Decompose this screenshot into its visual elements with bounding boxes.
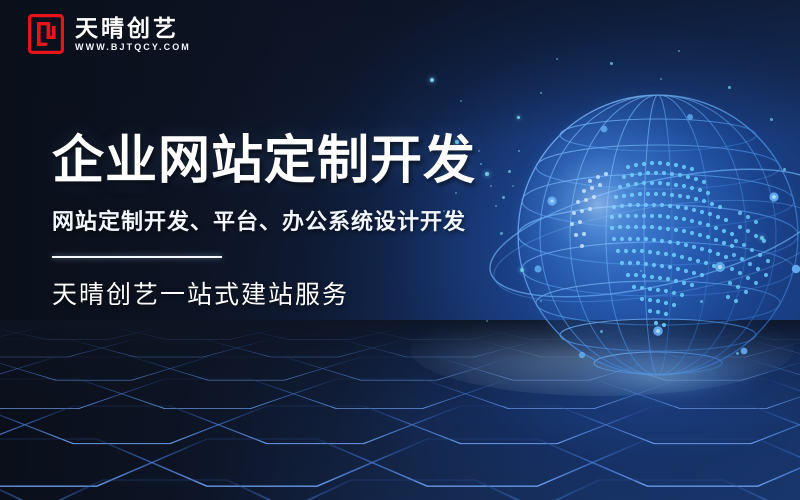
tianqing-square-logo-icon: [28, 14, 64, 54]
divider: [52, 256, 222, 258]
subtitle: 网站定制开发、平台、办公系统设计开发: [52, 208, 572, 237]
tagline: 天晴创艺一站式建站服务: [52, 279, 572, 312]
copy-block: 企业网站定制开发 网站定制开发、平台、办公系统设计开发 天晴创艺一站式建站服务: [52, 132, 572, 311]
banner-stage: 天晴创艺 WWW.BJTQCY.COM 企业网站定制开发 网站定制开发、平台、办…: [0, 0, 800, 500]
page-title: 企业网站定制开发: [52, 132, 572, 190]
brand-name-cn: 天晴创艺: [75, 17, 191, 40]
brand-logo[interactable]: 天晴创艺 WWW.BJTQCY.COM: [28, 14, 191, 54]
globe-base-glow: [563, 345, 763, 405]
brand-url: WWW.BJTQCY.COM: [75, 43, 191, 52]
